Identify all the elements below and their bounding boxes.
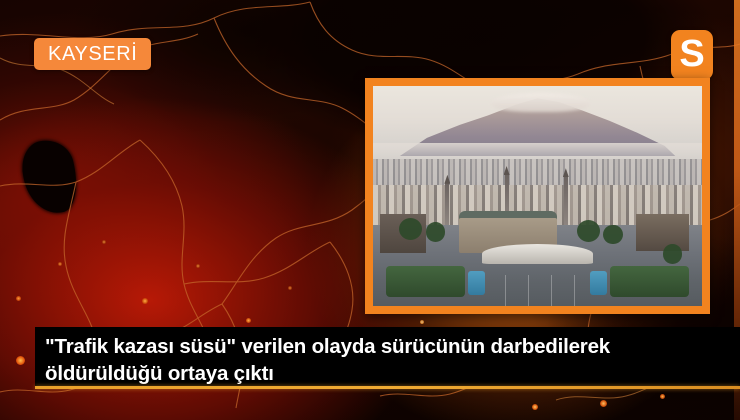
mountain-cloud-cap (491, 93, 590, 113)
city-badge-label: KAYSERİ (48, 44, 137, 64)
lawn-left (386, 266, 465, 297)
s-logo-letter: S (679, 35, 704, 73)
tree-3 (577, 220, 600, 242)
city-badge: KAYSERİ (34, 38, 151, 70)
caption-underline (35, 386, 740, 389)
lawn-right (610, 266, 689, 297)
road-marking-3 (551, 275, 553, 306)
road-marking-1 (505, 275, 507, 306)
road-marking-2 (528, 275, 530, 306)
water-feature-left (468, 271, 484, 295)
curved-fountain (482, 244, 594, 264)
photo-frame (365, 78, 710, 314)
right-historic-building (636, 214, 689, 251)
road-marking-4 (574, 275, 576, 306)
news-graphic: KAYSERİ S (0, 0, 740, 420)
kayseri-cityscape-photo (373, 86, 702, 306)
headline-caption-bar: "Trafik kazası süsü" verilen olayda sürü… (35, 327, 740, 386)
headline-text: "Trafik kazası süsü" verilen olayda sürü… (45, 333, 730, 387)
water-feature-right (590, 271, 606, 295)
s-logo[interactable]: S (671, 30, 713, 80)
